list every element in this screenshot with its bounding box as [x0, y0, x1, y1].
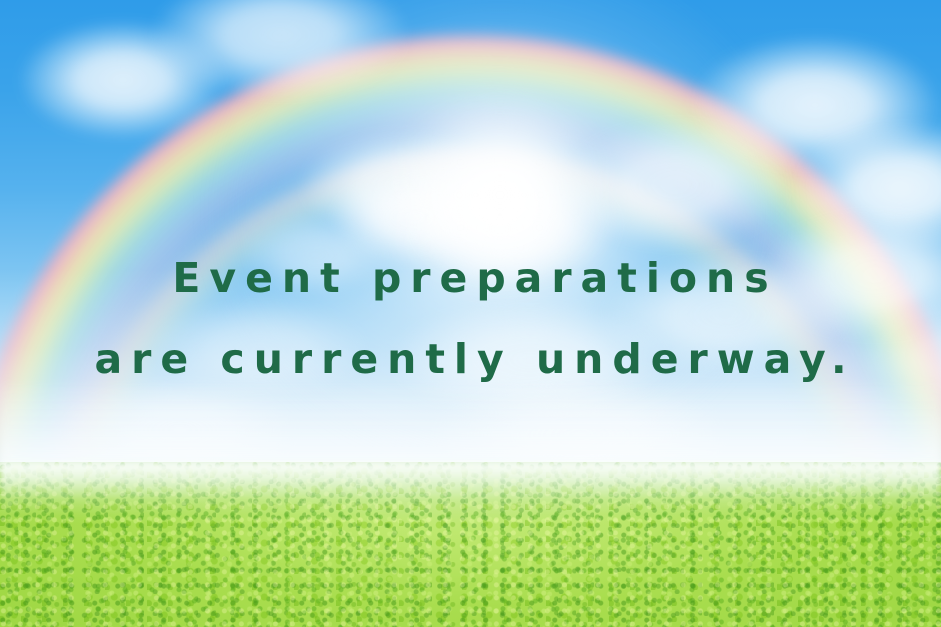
- caption-block: Event preparations are currently underwa…: [0, 258, 941, 380]
- caption-line-1: Event preparations: [0, 258, 941, 299]
- caption-line-2: are currently underway.: [0, 339, 941, 380]
- grass-field: [0, 462, 941, 627]
- rainbow-meadow-banner: Event preparations are currently underwa…: [0, 0, 941, 627]
- grass-horizon-fade: [0, 462, 941, 516]
